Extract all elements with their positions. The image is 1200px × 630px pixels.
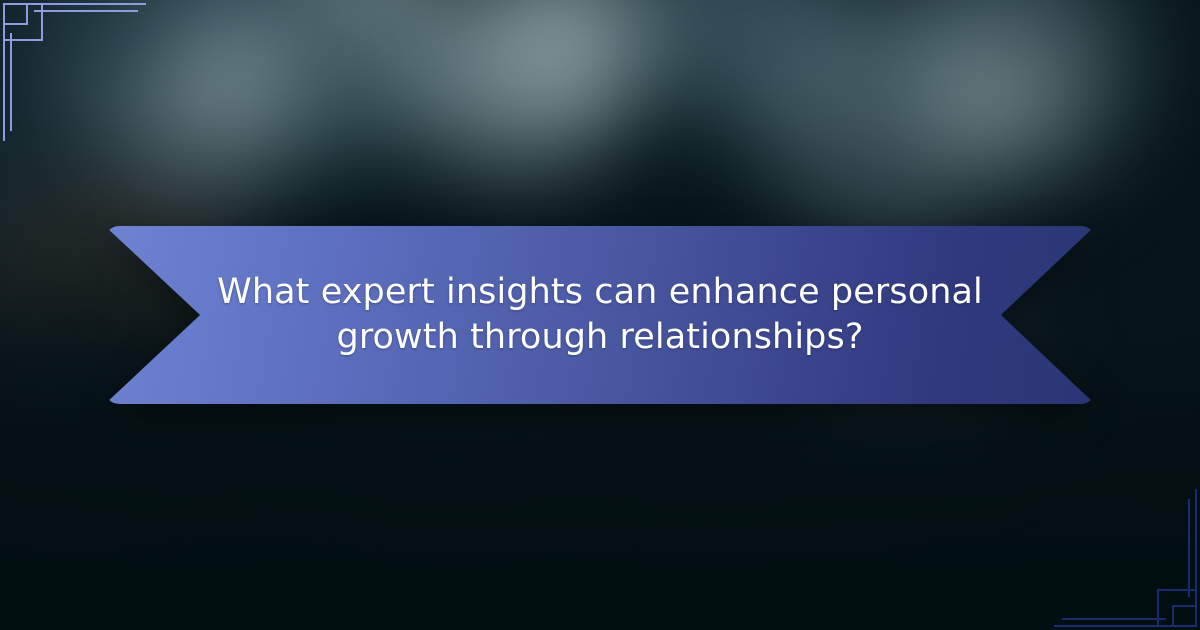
banner-headline: What expert insights can enhance persona… xyxy=(105,226,1095,404)
hud-line-vertical-inner xyxy=(1188,499,1190,597)
hud-corner-bracket-bottom-right xyxy=(1030,480,1200,630)
hud-square-outline xyxy=(1157,589,1197,627)
headline-line-1: What expert insights can enhance persona… xyxy=(217,270,983,316)
hud-line-vertical-step xyxy=(1172,605,1174,627)
hud-line-horizontal-inner xyxy=(1062,618,1166,620)
hud-line-horizontal-step xyxy=(1172,605,1197,607)
ribbon-banner: What expert insights can enhance persona… xyxy=(105,226,1095,404)
hud-line-horizontal-outer xyxy=(1054,625,1174,627)
hud-line-vertical-step xyxy=(26,3,28,25)
hud-corner-bracket-top-left xyxy=(0,0,170,150)
hud-square-outline xyxy=(3,3,43,41)
headline-line-2: growth through relationships? xyxy=(337,315,864,361)
hud-line-vertical-outer xyxy=(1195,489,1197,607)
hud-line-horizontal-outer xyxy=(26,3,146,5)
poster-canvas: What expert insights can enhance persona… xyxy=(0,0,1200,630)
hud-line-vertical-inner xyxy=(10,33,12,131)
hud-line-horizontal-step xyxy=(3,23,28,25)
hud-line-horizontal-inner xyxy=(34,10,138,12)
hud-line-vertical-outer xyxy=(3,23,5,141)
